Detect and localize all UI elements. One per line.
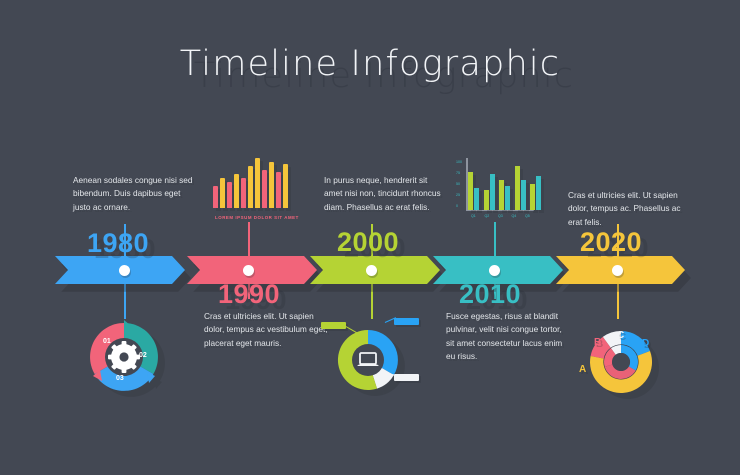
timeline-dot-1990[interactable] — [243, 265, 254, 276]
entry-text-1980: Aenean sodales congue nisi sed bibendum.… — [73, 174, 197, 214]
bar-chart-2010-bar — [468, 172, 473, 210]
bar-chart-2010-x-tick: Q2 — [485, 214, 490, 218]
bar-chart-1990-bar — [241, 178, 246, 208]
donut-2000-callout-right — [394, 318, 419, 325]
bar-chart-2010-group — [484, 174, 495, 210]
timeline-segment-2020[interactable] — [556, 256, 685, 284]
stem-1990-top — [248, 222, 250, 258]
timeline-dot-2000[interactable] — [366, 265, 377, 276]
year-label-2010: 2010 — [459, 279, 521, 310]
timeline-bar — [55, 256, 685, 284]
bar-chart-2010-group — [530, 176, 541, 210]
bar-chart-2010-x-tick: Q3 — [498, 214, 503, 218]
bar-chart-1990-bar — [276, 172, 281, 208]
bar-chart-2010-x-tick: Q5 — [525, 214, 530, 218]
bar-chart-2010-x-tick: Q1 — [471, 214, 476, 218]
cycle-label-03: 03 — [116, 375, 124, 382]
bar-chart-1990-bar — [234, 174, 239, 208]
bar-chart-2010-bar — [530, 184, 535, 210]
year-label-2000: 2000 — [337, 227, 399, 258]
bar-chart-2010-y-tick: 100 — [456, 160, 462, 164]
bar-chart-2010-group — [499, 180, 510, 210]
gear-icon — [108, 341, 140, 373]
donut-2020-label-C: C — [617, 330, 624, 341]
bar-chart-2010-bar — [499, 180, 504, 210]
bar-chart-2010-x-tick: Q4 — [512, 214, 517, 218]
year-label-2020: 2020 — [580, 227, 642, 258]
timeline-segment-2000[interactable] — [310, 256, 440, 284]
donut-2020-label-D: D — [642, 338, 649, 349]
bar-chart-1990: LOREM IPSUM DOLOR SIT AMET — [213, 162, 289, 222]
entry-text-1990: Cras et ultricies elit. Ut sapien dolor,… — [204, 310, 328, 350]
bar-chart-1990-bar — [283, 164, 288, 208]
timeline-dot-1980[interactable] — [119, 265, 130, 276]
donut-chart-2020: A B C D — [583, 322, 659, 398]
bar-chart-1990-bar — [269, 162, 274, 208]
bar-chart-1990-bar — [213, 186, 218, 208]
page-title: Timeline Infographic — [0, 44, 740, 84]
bar-chart-1990-bar — [262, 170, 267, 208]
bar-chart-2010-bar — [484, 190, 489, 210]
bar-chart-2010-y-tick: 75 — [456, 171, 460, 175]
bar-chart-2010-bars — [468, 166, 544, 210]
entry-text-2010: Fusce egestas, risus at blandit pulvinar… — [446, 310, 570, 364]
donut-2020-hole — [612, 353, 630, 371]
donut-2000-callout-bottom — [394, 374, 419, 381]
donut-2000-callout-left — [321, 322, 346, 329]
cycle-diagram-1990: 01 02 03 — [85, 318, 163, 396]
donut-2020-label-B: B — [594, 337, 601, 348]
bar-chart-1990-bar — [248, 166, 253, 208]
bar-chart-2010-bar — [536, 176, 541, 210]
donut-2020-label-A: A — [579, 364, 586, 375]
bar-chart-2010-bar — [521, 180, 526, 210]
cycle-label-01: 01 — [103, 338, 111, 345]
donut-chart-2000 — [332, 325, 410, 395]
bar-chart-2010-y-tick: 25 — [456, 193, 460, 197]
year-label-1980: 1980 — [87, 228, 149, 259]
bar-chart-2010-group — [515, 166, 526, 210]
bar-chart-2010-bar — [505, 186, 510, 210]
bar-chart-1990-caption: LOREM IPSUM DOLOR SIT AMET — [215, 215, 299, 220]
cycle-label-02: 02 — [139, 352, 147, 359]
entry-text-2020: Cras et ultricies elit. Ut sapien dolor,… — [568, 189, 692, 229]
entry-text-2000: In purus neque, hendrerit sit amet nisi … — [324, 174, 448, 214]
infographic-canvas: Timeline Infographic — [0, 0, 740, 475]
timeline-segment-1980[interactable] — [55, 256, 185, 284]
bar-chart-2010: 1007550250 Q1Q2Q3Q4Q5 — [456, 158, 542, 222]
cycle-diagram-svg — [85, 318, 163, 396]
bar-chart-2010-bar — [515, 166, 520, 210]
year-label-1990: 1990 — [218, 279, 280, 310]
donut-chart-2000-svg — [332, 325, 410, 395]
bar-chart-1990-bars — [213, 158, 288, 208]
bar-chart-2010-y-tick: 50 — [456, 182, 460, 186]
bar-chart-2010-group — [468, 172, 479, 210]
bar-chart-2010-bar — [490, 174, 495, 210]
bar-chart-1990-bar — [255, 158, 260, 208]
timeline-dot-2010[interactable] — [489, 265, 500, 276]
bar-chart-2010-y-tick: 0 — [456, 204, 458, 208]
timeline-dot-2020[interactable] — [612, 265, 623, 276]
bar-chart-1990-bar — [220, 178, 225, 208]
bar-chart-1990-bar — [227, 182, 232, 208]
stem-2010-top — [494, 222, 496, 258]
bar-chart-2010-bar — [474, 188, 479, 210]
